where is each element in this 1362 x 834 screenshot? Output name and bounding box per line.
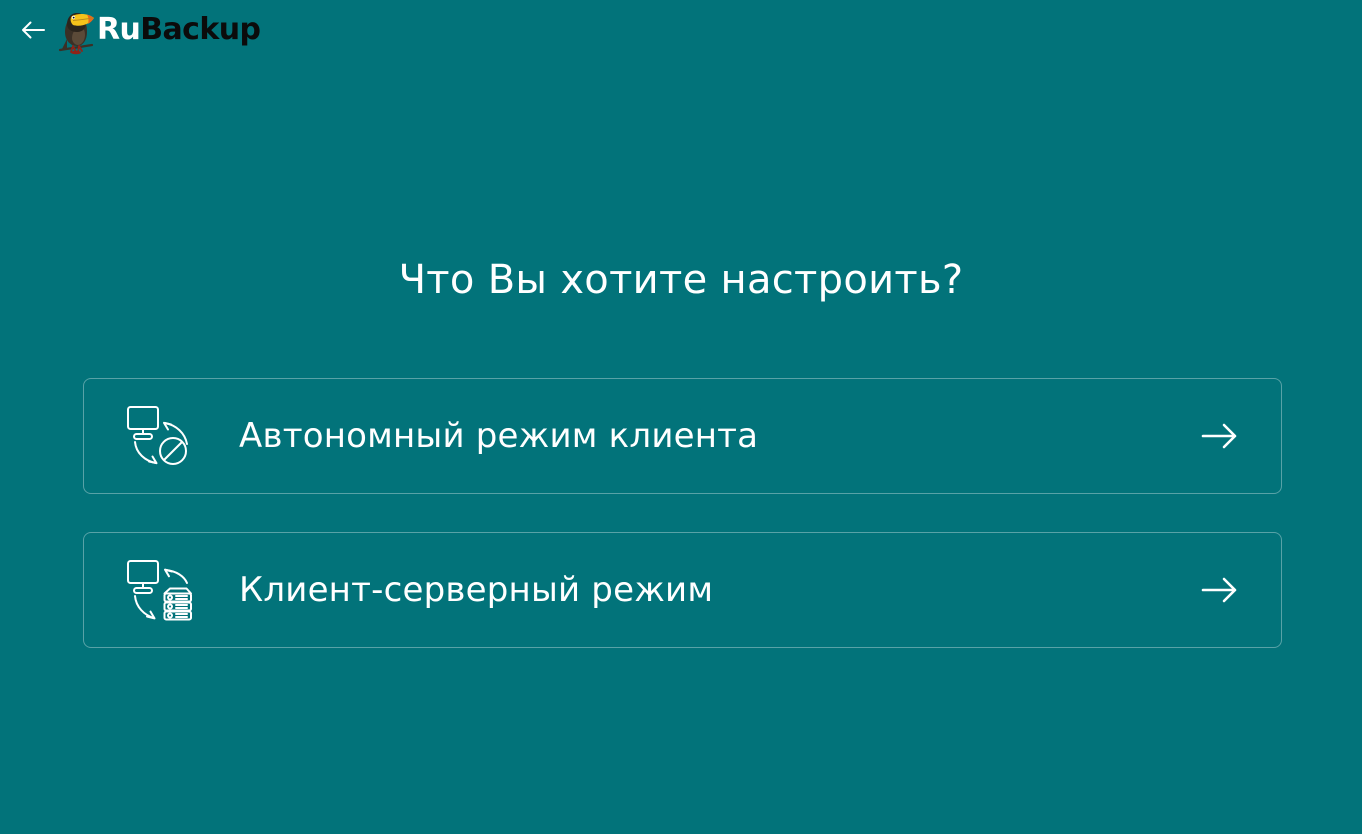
- option-label: Клиент-серверный режим: [239, 570, 1197, 610]
- page-title: Что Вы хотите настроить?: [0, 256, 1362, 304]
- arrow-right-icon: [1197, 567, 1243, 613]
- option-standalone-client-mode[interactable]: Автономный режим клиента: [83, 378, 1282, 494]
- toucan-bird-logo: [56, 5, 96, 57]
- logo-wordmark: RuBackup: [97, 15, 260, 45]
- monitor-offline-cycle-icon: [122, 400, 194, 472]
- logo-text-backup: Backup: [140, 12, 260, 47]
- back-button[interactable]: [16, 13, 50, 47]
- option-client-server-mode[interactable]: Клиент-серверный режим: [83, 532, 1282, 648]
- option-label: Автономный режим клиента: [239, 416, 1197, 456]
- logo-text-ru: Ru: [97, 12, 140, 47]
- arrow-left-icon: [20, 19, 46, 41]
- monitor-server-cycle-icon: [122, 554, 194, 626]
- setup-mode-options: Автономный режим клиента: [83, 378, 1282, 648]
- main-content: Что Вы хотите настроить?: [0, 60, 1362, 834]
- arrow-right-icon: [1197, 413, 1243, 459]
- rubackup-logo: RuBackup: [56, 2, 260, 58]
- app-header: RuBackup: [0, 0, 1362, 60]
